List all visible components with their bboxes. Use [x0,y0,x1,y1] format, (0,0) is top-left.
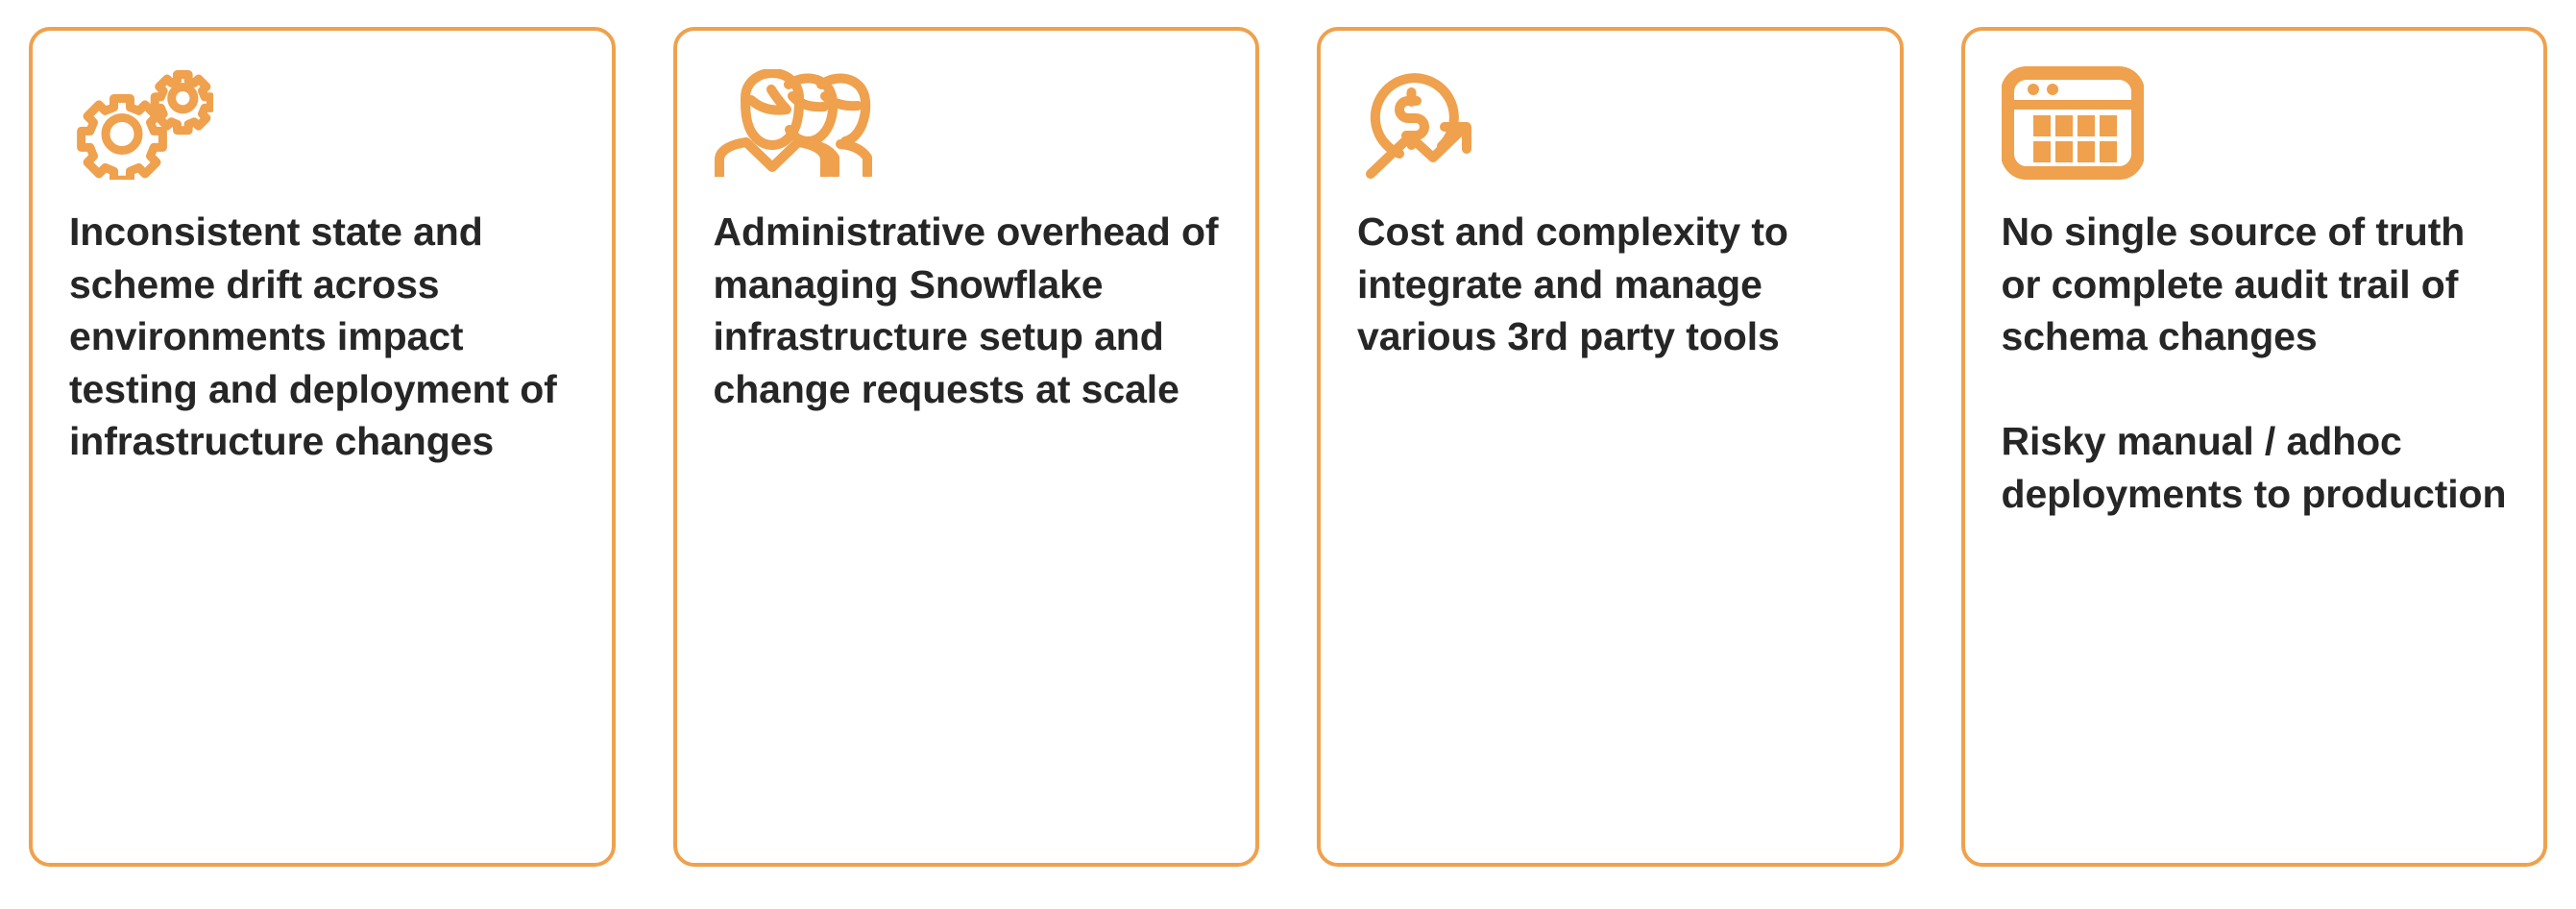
card-body: No single source of truth or complete au… [2002,206,2508,520]
card-no-single-source-of-truth: No single source of truth or complete au… [1961,27,2548,867]
card-paragraph-primary: Inconsistent state and scheme drift acro… [69,206,575,468]
card-paragraph-primary: No single source of truth or complete au… [2002,206,2508,363]
gears-icon [69,65,575,181]
challenges-card-row: Inconsistent state and scheme drift acro… [0,0,2576,909]
dollar-growth-icon [1357,65,1863,181]
card-inconsistent-state: Inconsistent state and scheme drift acro… [29,27,616,867]
card-paragraph-primary: Administrative overhead of managing Snow… [714,206,1220,415]
card-paragraph-secondary: Risky manual / adhoc deployments to prod… [2002,415,2508,520]
card-cost-and-complexity: Cost and complexity to integrate and man… [1317,27,1904,867]
table-window-icon [2002,65,2508,181]
card-body: Cost and complexity to integrate and man… [1357,206,1863,363]
card-administrative-overhead: Administrative overhead of managing Snow… [673,27,1260,867]
card-body: Administrative overhead of managing Snow… [714,206,1220,415]
card-body: Inconsistent state and scheme drift acro… [69,206,575,468]
people-group-icon [714,65,1220,181]
card-paragraph-primary: Cost and complexity to integrate and man… [1357,206,1863,363]
